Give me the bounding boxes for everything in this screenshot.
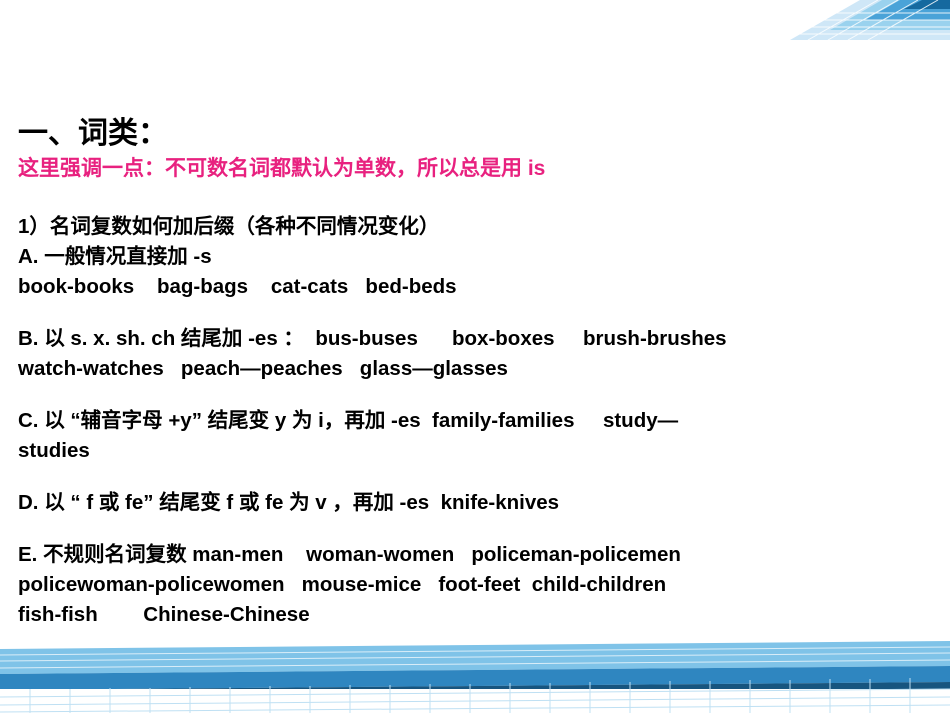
rule-line: A. 一般情况直接加 -s	[18, 242, 938, 272]
rule-line: watch-watches peach—peaches glass—glasse…	[18, 354, 938, 384]
rule-line: C. 以 “辅音字母 +y” 结尾变 y 为 i，再加 -es family-f…	[18, 406, 938, 436]
slide: 一、词类： 这里强调一点：不可数名词都默认为单数，所以总是用 is 1）名词复数…	[0, 0, 950, 713]
rule-line: 1）名词复数如何加后缀（各种不同情况变化）	[18, 212, 938, 242]
rule-line: B. 以 s. x. sh. ch 结尾加 -es ： bus-buses bo…	[18, 324, 938, 354]
slide-content: 一、词类： 这里强调一点：不可数名词都默认为单数，所以总是用 is 1）名词复数…	[0, 0, 950, 713]
rule-block-d: D. 以 “ f 或 fe” 结尾变 f 或 fe 为 v ，再加 -es kn…	[18, 488, 938, 518]
rule-line: policewoman-policewomen mouse-mice foot-…	[18, 570, 938, 600]
rule-block-a: 1）名词复数如何加后缀（各种不同情况变化） A. 一般情况直接加 -s book…	[18, 212, 938, 302]
rule-block-b: B. 以 s. x. sh. ch 结尾加 -es ： bus-buses bo…	[18, 324, 938, 384]
rule-line: E. 不规则名词复数 man-men woman-women policeman…	[18, 540, 938, 570]
rule-block-e: E. 不规则名词复数 man-men woman-women policeman…	[18, 540, 938, 630]
rule-block-c: C. 以 “辅音字母 +y” 结尾变 y 为 i，再加 -es family-f…	[18, 406, 938, 466]
slide-subtitle-note: 这里强调一点：不可数名词都默认为单数，所以总是用 is	[18, 152, 545, 182]
slide-title: 一、词类：	[18, 108, 168, 152]
rule-line: studies	[18, 436, 938, 466]
rule-line: fish-fish Chinese-Chinese	[18, 600, 938, 630]
rule-line: book-books bag-bags cat-cats bed-beds	[18, 272, 938, 302]
rule-line: D. 以 “ f 或 fe” 结尾变 f 或 fe 为 v ，再加 -es kn…	[18, 488, 938, 518]
slide-body: 1）名词复数如何加后缀（各种不同情况变化） A. 一般情况直接加 -s book…	[18, 212, 938, 630]
